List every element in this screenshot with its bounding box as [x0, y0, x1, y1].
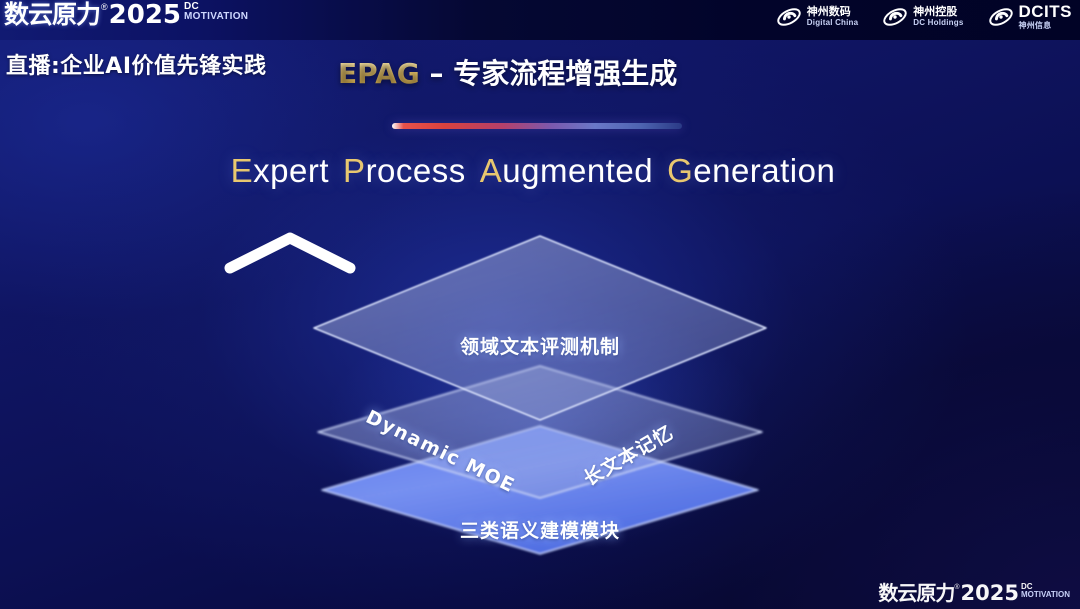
cobrand-name-cn: 神州信息 [1019, 20, 1073, 31]
subtitle-word-augmented: Augmented [480, 152, 653, 189]
swirl-icon [988, 4, 1014, 30]
page-title: EPAG – 专家流程增强生成 [338, 52, 677, 92]
brand-logo: 数云原力 ® 2025 DC MOTIVATION [4, 1, 248, 33]
brand-dc-motivation: DC MOTIVATION [184, 2, 248, 22]
live-banner-label: 直播:企业AI价值先锋实践 [0, 48, 267, 80]
layered-stack-diagram: 三类语义建模模块 Dynamic MOE 长文本记忆 [290, 228, 790, 568]
subtitle-cap-g: G [667, 152, 693, 189]
watermark-name-cn: 数云原力 [878, 582, 954, 605]
cobrand-text: DCITS 神州信息 [1019, 3, 1073, 31]
brand-year: 2025 [109, 1, 181, 29]
stack-layer-top-label: 领域文本评测机制 [460, 332, 620, 359]
watermark-registered-mark: ® [954, 582, 959, 593]
swirl-icon [776, 4, 802, 30]
subtitle-cap-e: E [231, 152, 254, 189]
gradient-divider [392, 123, 682, 129]
cobrand-name-cn: 神州控股 [913, 6, 963, 17]
subtitle-word-expert: Expert [231, 152, 329, 189]
watermark-dc-line2: MOTIVATION [1021, 591, 1070, 599]
watermark-dc-motivation: DC MOTIVATION [1021, 583, 1070, 599]
subtitle-rest-augmented: ugmented [502, 152, 653, 189]
swirl-icon [882, 4, 908, 30]
subtitle-cap-p: P [343, 152, 366, 189]
subtitle-rest-process: rocess [366, 152, 466, 189]
chevron-up-icon [220, 228, 360, 276]
cobrand-dcits: DCITS 神州信息 [988, 3, 1073, 31]
subtitle-rest-generation: eneration [693, 152, 835, 189]
subtitle-expert-process-augmented-generation: ExpertProcessAugmentedGeneration [0, 152, 1080, 190]
cobrand-digital-china: 神州数码 Digital China [776, 4, 859, 30]
subtitle-cap-a: A [480, 152, 503, 189]
title-acronym: EPAG [338, 57, 420, 90]
brand-dc-line2: MOTIVATION [184, 12, 248, 22]
cobrand-name-en: DCITS [1019, 3, 1073, 20]
slide-root: 数云原力 ® 2025 DC MOTIVATION 神州数码 Digital C… [0, 0, 1080, 609]
brand-name-cn: 数云原力 [4, 1, 100, 29]
title-chinese: 专家流程增强生成 [453, 57, 677, 90]
watermark-year: 2025 [961, 582, 1019, 605]
cobrand-text: 神州数码 Digital China [807, 6, 859, 28]
cobrand-name-cn: 神州数码 [807, 6, 859, 17]
cobrand-text: 神州控股 DC Holdings [913, 6, 963, 28]
cobrand-name-en: Digital China [807, 17, 859, 28]
brand-registered-mark: ® [101, 1, 108, 14]
stack-layer-top[interactable]: 领域文本评测机制 [290, 228, 790, 568]
stack-layer-top-shape [290, 228, 790, 568]
subtitle-rest-expert: xpert [253, 152, 329, 189]
live-banner: 直播:企业AI价值先锋实践 [0, 40, 330, 88]
watermark-logo: 数云原力 ® 2025 DC MOTIVATION [878, 582, 1070, 605]
cobrand-dc-holdings: 神州控股 DC Holdings [882, 4, 963, 30]
title-separator: – [420, 57, 454, 90]
cobrand-name-en: DC Holdings [913, 17, 963, 28]
cobrand-logo-group: 神州数码 Digital China 神州控股 DC Holdings [776, 3, 1072, 31]
subtitle-word-generation: Generation [667, 152, 835, 189]
subtitle-word-process: Process [343, 152, 466, 189]
